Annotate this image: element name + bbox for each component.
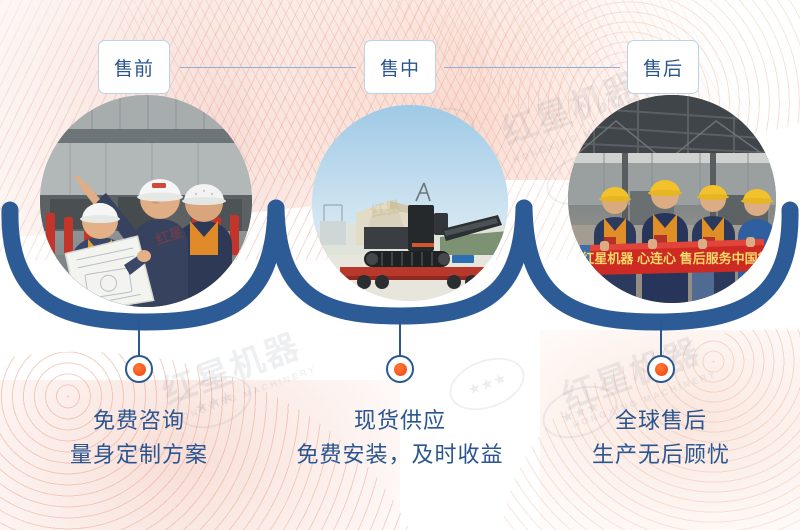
caption-in-sale: 现货供应 免费安装，及时收益 bbox=[250, 404, 550, 472]
caption-after-sale: 全球售后 生产无后顾忧 bbox=[511, 404, 800, 472]
photo-in-sale-art: 红星 bbox=[312, 105, 508, 301]
step-badge-after-sale[interactable]: 售后 bbox=[627, 40, 699, 94]
caption-line-2: 免费安装，及时收益 bbox=[250, 438, 550, 472]
caption-line-2: 量身定制方案 bbox=[0, 438, 289, 472]
node-dot-icon bbox=[394, 363, 407, 376]
photo-after-sale: 红星机器 心连心 售后服务中国行 bbox=[568, 95, 776, 303]
node-stem-3 bbox=[660, 318, 662, 356]
caption-line-1: 现货供应 bbox=[250, 404, 550, 438]
caption-line-2: 生产无后顾忧 bbox=[511, 438, 800, 472]
step-badge-pre-sale[interactable]: 售前 bbox=[98, 40, 170, 94]
step-connector-line-2 bbox=[444, 67, 620, 68]
photo-in-sale: 红星 bbox=[312, 105, 508, 301]
node-marker-after-sale[interactable] bbox=[647, 355, 675, 383]
step-badge-in-sale[interactable]: 售中 bbox=[364, 40, 436, 94]
step-connector-line-1 bbox=[180, 67, 356, 68]
node-dot-icon bbox=[133, 363, 146, 376]
node-marker-pre-sale[interactable] bbox=[125, 355, 153, 383]
photo-pre-sale-art: 红星 bbox=[40, 95, 252, 307]
caption-line-1: 全球售后 bbox=[511, 404, 800, 438]
node-dot-icon bbox=[655, 363, 668, 376]
photo-pre-sale: 红星 bbox=[40, 95, 252, 307]
photo-after-sale-art: 红星机器 心连心 售后服务中国行 bbox=[568, 95, 776, 303]
node-stem-1 bbox=[138, 318, 140, 356]
node-marker-in-sale[interactable] bbox=[386, 355, 414, 383]
caption-pre-sale: 免费咨询 量身定制方案 bbox=[0, 404, 289, 472]
node-stem-2 bbox=[399, 318, 401, 356]
promo-infographic: 红星机器 HONGXING MACHINERY 红星机器 HONGXING MA… bbox=[0, 0, 800, 530]
caption-line-1: 免费咨询 bbox=[0, 404, 289, 438]
photo-banner-text: 红星机器 心连心 售后服务中国行 bbox=[581, 251, 770, 266]
step-label-row: 售前 售中 售后 bbox=[0, 40, 800, 96]
